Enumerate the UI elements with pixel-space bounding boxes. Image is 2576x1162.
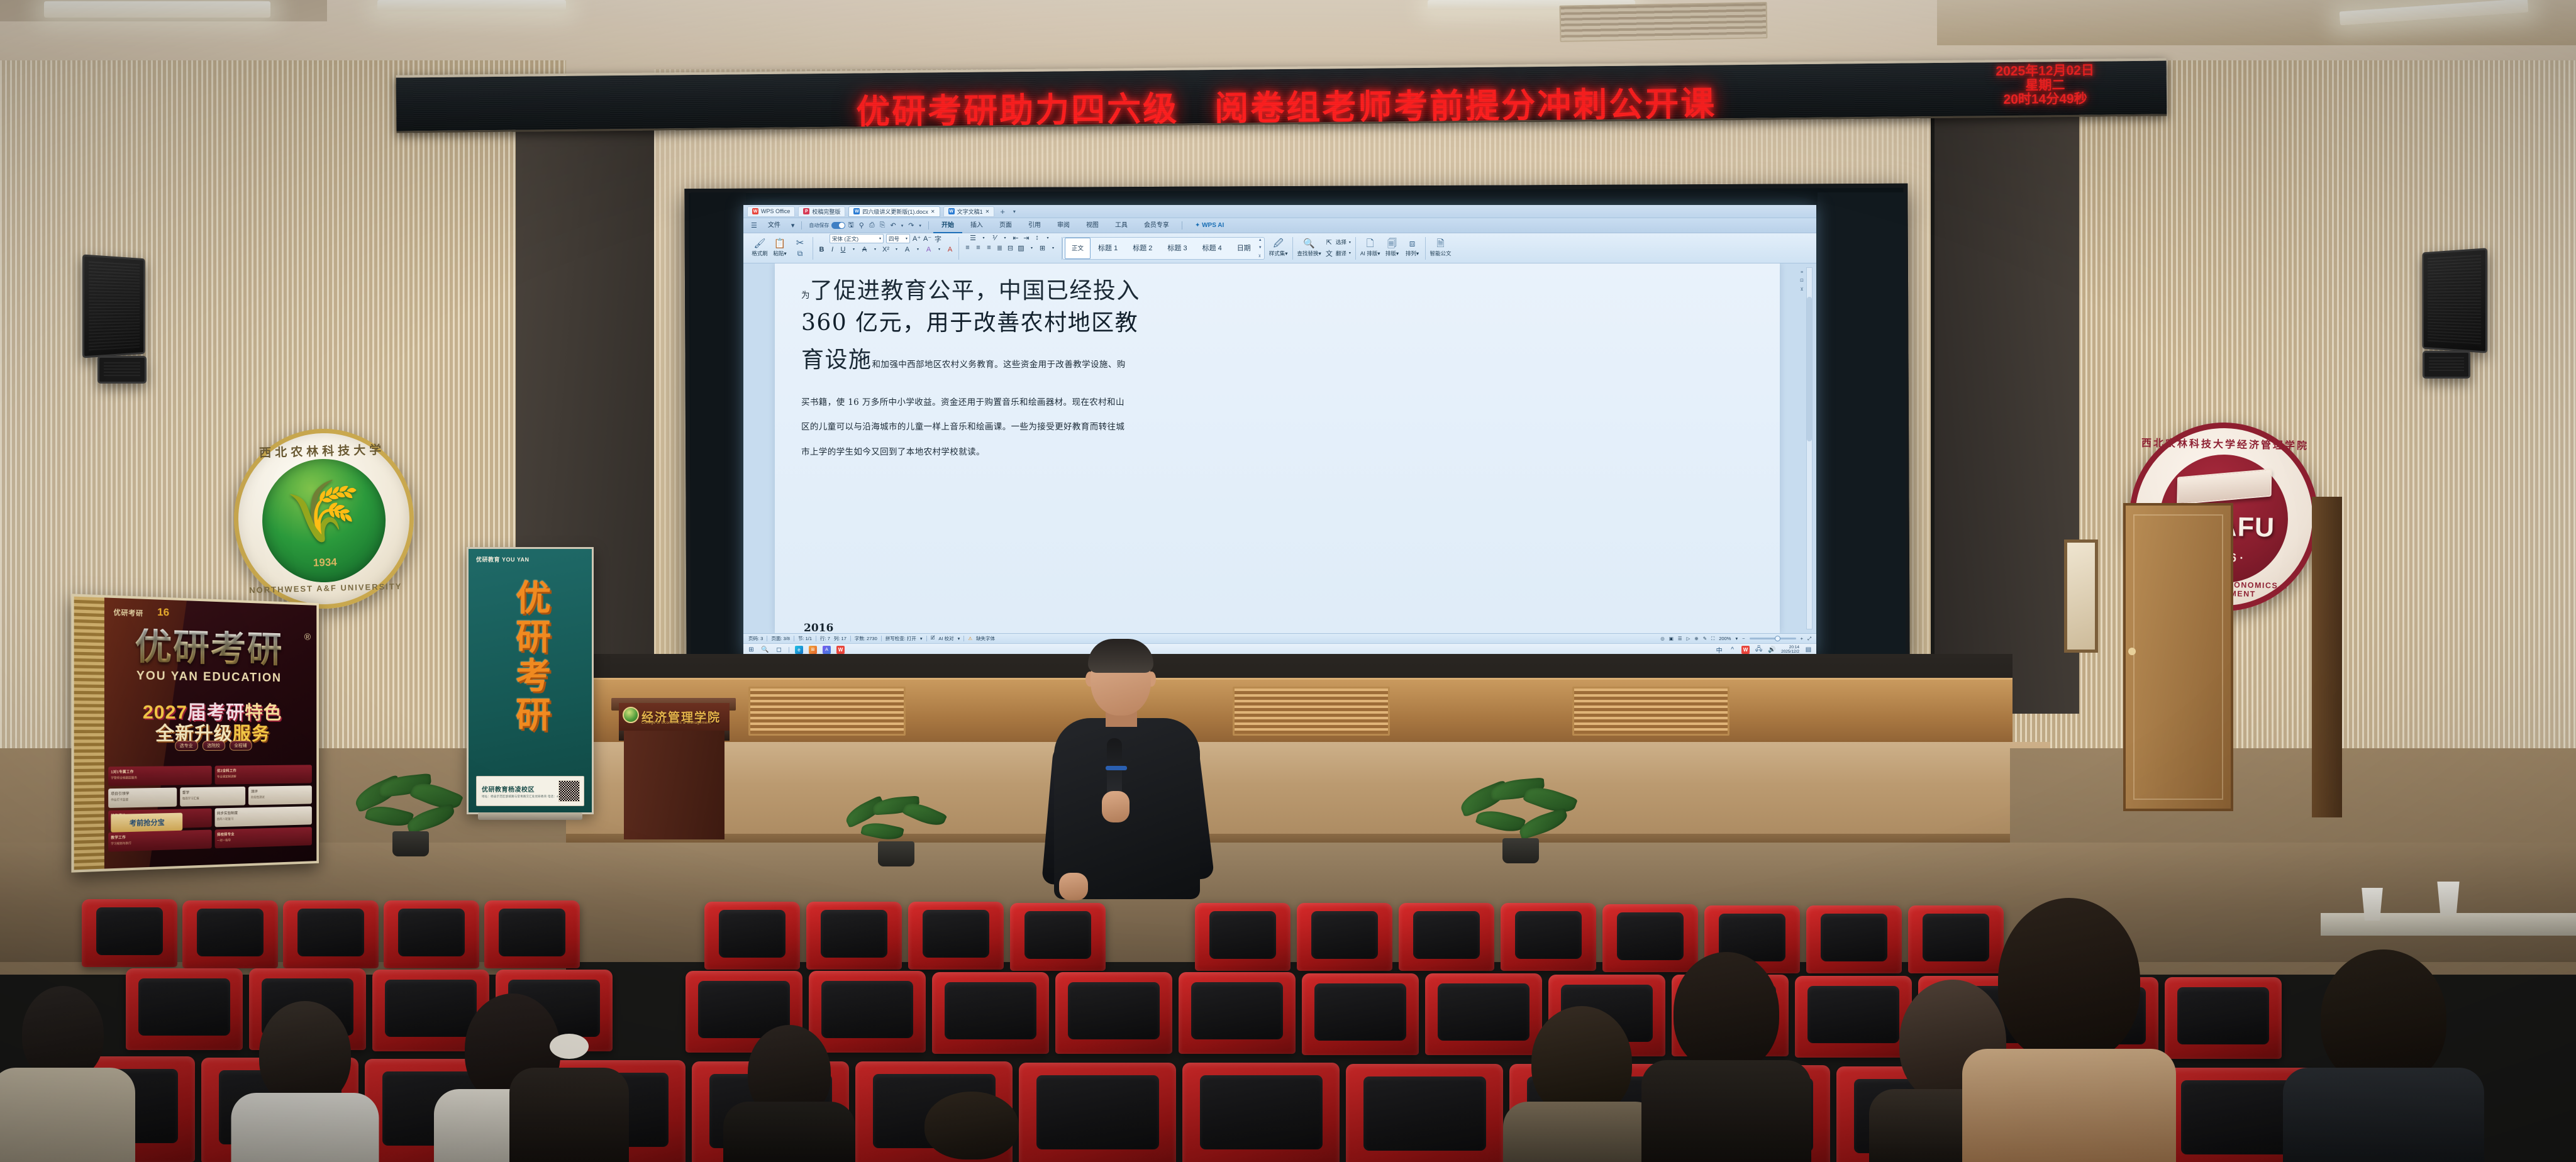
- button-label: 样式集▾: [1269, 250, 1288, 257]
- document-tab-active[interactable]: W 四六级讲义更新版(1).docx ✕: [848, 206, 940, 217]
- outline-view-icon[interactable]: ▷: [1687, 636, 1690, 641]
- tab-label: 四六级讲义更新版(1).docx: [862, 207, 928, 216]
- increase-font-size-button[interactable]: A⁺: [913, 235, 921, 243]
- style-heading-1[interactable]: 标题 1: [1091, 238, 1125, 259]
- button-label: 粘贴▾: [773, 250, 786, 257]
- projection-screen-left-margin: [691, 192, 746, 658]
- wall-dark-right: [1935, 85, 2079, 714]
- seat[interactable]: [82, 899, 177, 967]
- taskbar-tray[interactable]: 中 ^ W 🖧 🔊 20:14 2025/12/2 ▤: [1715, 645, 1813, 655]
- borders-icon[interactable]: ⊞: [1038, 244, 1046, 252]
- clipboard-group[interactable]: 🖌 格式刷 📋 粘贴▾ ✂ ⧉: [747, 234, 813, 263]
- seat[interactable]: [1501, 903, 1596, 971]
- document-tab[interactable]: W WPS Office: [747, 206, 795, 217]
- paragraph-group[interactable]: ☰ ▾ ⅟ ▾ ⇤ ⇥ ↕ ▾ ≡ ≡ ≡ ≣ ⊟ ▨ ▾ ⊞: [959, 234, 1062, 263]
- poster-brand-en: YOU YAN EDUCATION: [107, 668, 308, 685]
- doc-line-3: 育设施和加强中西部地区农村义务教育。这些资金用于改善教学设施、购: [801, 341, 1755, 374]
- new-tab-button[interactable]: +: [997, 207, 1008, 216]
- document-tab-bar[interactable]: W WPS Office P 校稿完整版 W 四六级讲义更新版(1).docx …: [743, 205, 1816, 218]
- status-page-of[interactable]: 页面: 3/8: [771, 635, 790, 642]
- chevron-down-icon[interactable]: ▾: [980, 236, 988, 240]
- style-set-icon: 🖉: [1274, 239, 1284, 248]
- wall-louver-2: [1233, 687, 1390, 736]
- seat[interactable]: [283, 900, 379, 968]
- style-heading-4[interactable]: 标题 4: [1195, 238, 1230, 259]
- seat[interactable]: [806, 902, 902, 970]
- ai-layout-icon: 🗋: [1367, 239, 1374, 248]
- vertical-scrollbar[interactable]: [1806, 267, 1813, 629]
- warning-icon: ⚠: [968, 636, 972, 641]
- cell-title: 督学: [182, 790, 189, 795]
- emblem-name-cn: 西北农林科技大学经济管理学院: [2136, 434, 2314, 453]
- pdf-icon: P: [803, 208, 809, 214]
- doc-line-1: 为了促进教育公平，中国已经投入: [801, 272, 1755, 305]
- poster-anniversary-badge: 16: [157, 606, 169, 619]
- seat[interactable]: [1806, 905, 1902, 973]
- led-clock: 2025年12月02日 星期二 20时14分49秒: [1941, 64, 2150, 108]
- status-bar[interactable]: 页码: 3 页面: 3/8 节: 1/1 行: 7 列: 17 字数: 2730…: [743, 633, 1816, 643]
- find-replace-button[interactable]: 🔍 查找替换▾: [1297, 239, 1321, 257]
- banner-brand-text: 优研考研: [513, 579, 548, 735]
- arrange-button[interactable]: ⧈ 排列▾: [1404, 239, 1421, 257]
- status-bar-right[interactable]: ◎ ▣ ☰ ▷ ⊕ ✎ ⛶ 200% ▾ − + ⤢: [1660, 636, 1811, 642]
- document-page[interactable]: 为了促进教育公平，中国已经投入 360 亿元，用于改善农村地区教 育设施和加强中…: [775, 263, 1780, 633]
- wall-louver-3: [1572, 687, 1729, 736]
- print-icon[interactable]: ⎙: [867, 221, 877, 230]
- seat[interactable]: [1010, 903, 1106, 971]
- highlight-color-button[interactable]: A: [924, 246, 933, 253]
- person-head: [2321, 949, 2446, 1087]
- font-row-2[interactable]: B I U ▾ A ▾ X² ▾ A ▾ A ▾ A: [818, 246, 954, 253]
- doc-icon: W: [853, 208, 860, 214]
- poster-pill: 全程辅: [230, 741, 252, 751]
- status-spellcheck[interactable]: 拼写检查: 打开: [885, 635, 916, 642]
- tab-label: 文字文稿1: [957, 207, 983, 216]
- status-section[interactable]: 节: 1/1: [798, 635, 812, 642]
- divider: [881, 636, 882, 641]
- reading-layout-icon[interactable]: ▣: [1669, 636, 1674, 641]
- wps-ai-button[interactable]: ✦ WPS AI: [1187, 218, 1232, 233]
- poster-grid-row: 1对1专属工作 学管师全程跟踪服务 优2全科工作 专业课定制讲解: [108, 765, 312, 786]
- select-row[interactable]: ⇱ 选择 ▾: [1325, 238, 1351, 246]
- document-canvas[interactable]: 为了促进教育公平，中国已经投入 360 亿元，用于改善农村地区教 育设施和加强中…: [743, 263, 1816, 633]
- taskbar-clock[interactable]: 20:14 2025/12/2: [1781, 645, 1799, 655]
- audience-member: [906, 1092, 1038, 1162]
- person-shoulders: [0, 1068, 135, 1162]
- bold-button[interactable]: B: [818, 246, 826, 253]
- ribbon-tab-review[interactable]: 审阅: [1049, 218, 1078, 233]
- ruler-mark: ⊡: [1800, 277, 1804, 285]
- divider: [1182, 221, 1182, 230]
- lectern: 经济管理学院 College of Economics & Management: [615, 654, 732, 839]
- seat[interactable]: [126, 968, 243, 1050]
- banner-header: 优研教育 YOU YAN: [476, 555, 530, 563]
- college-badge-icon: [623, 707, 639, 723]
- divider: [928, 221, 929, 230]
- shading-icon[interactable]: ▨: [1017, 244, 1025, 252]
- zoom-in-button[interactable]: +: [1801, 636, 1803, 641]
- chevron-down-icon[interactable]: ▾: [871, 247, 879, 252]
- share-icon[interactable]: ⚲: [857, 221, 867, 230]
- divider: [794, 636, 794, 641]
- ai-proofread-icon: 🗹: [931, 634, 935, 643]
- audience-member: [516, 1030, 623, 1162]
- undo-icon[interactable]: ↶: [887, 221, 898, 230]
- align-left-icon[interactable]: ≡: [963, 244, 972, 252]
- clock-time: 20:14: [1781, 645, 1799, 650]
- scrollbar-thumb[interactable]: [1807, 297, 1812, 441]
- eye-care-icon[interactable]: ◎: [1660, 636, 1665, 641]
- divider: [801, 221, 802, 230]
- chevron-down-icon[interactable]: ▾: [892, 247, 901, 252]
- smart-doc-button[interactable]: 🗎 智能公文: [1430, 239, 1452, 257]
- microphone-band: [1106, 766, 1127, 770]
- chevron-down-icon[interactable]: ▾: [958, 636, 960, 641]
- doc-line-6: 市上学的学生如今又回到了本地农村学校就读。: [801, 440, 1755, 465]
- rollup-banner-teal: 优研教育 YOU YAN 优研考研 优研教育杨凌校区 地址：杨凌示范区邰城路与常…: [467, 547, 594, 814]
- numbered-list-icon[interactable]: ⅟: [991, 234, 999, 242]
- doc-line-3-big: 育设施: [801, 347, 872, 373]
- button-label: AI 排版▾: [1360, 250, 1380, 257]
- cell-title: 测评: [251, 789, 258, 794]
- seat[interactable]: [1019, 1063, 1176, 1162]
- ai-layout-button[interactable]: 🗋 AI 排版▾: [1360, 239, 1380, 257]
- ime-icon[interactable]: 中: [1715, 646, 1723, 654]
- tray-wps-icon[interactable]: W: [1741, 646, 1750, 654]
- paragraph-row-1[interactable]: ☰ ▾ ⅟ ▾ ⇤ ⇥ ↕ ▾: [969, 234, 1052, 242]
- page-view-icon[interactable]: ☰: [1678, 636, 1682, 641]
- format-brush-icon: 🖌: [753, 239, 765, 248]
- seat[interactable]: [2165, 977, 2282, 1059]
- seat[interactable]: [1179, 972, 1296, 1054]
- poster-grid-row: 项目引领学 作业打卡监督 督学 每周学习汇报 测评 阶段性测试: [108, 785, 312, 808]
- chevron-down-icon[interactable]: ▾: [914, 247, 922, 252]
- poster-pill: 选专业: [175, 741, 198, 751]
- bullet-list-icon[interactable]: ☰: [969, 234, 977, 242]
- copy-icon[interactable]: ⧉: [797, 249, 803, 258]
- save-icon[interactable]: 🖫: [845, 219, 856, 231]
- projection-screen-right-margin: [1818, 192, 1906, 658]
- chevron-down-icon[interactable]: ▼: [1258, 246, 1262, 250]
- align-right-icon[interactable]: ≡: [985, 244, 993, 252]
- loudspeaker-right: [2423, 248, 2488, 353]
- poster-cell: 1对1专属工作 学管师全程跟踪服务: [108, 766, 211, 786]
- redo-icon[interactable]: ↷: [906, 221, 916, 230]
- scissors-icon: ✂: [796, 238, 804, 248]
- document-tab[interactable]: P 校稿完整版: [798, 206, 845, 217]
- person-shoulders: [2283, 1068, 2484, 1162]
- person-shoulders: [723, 1102, 855, 1162]
- status-col[interactable]: 列: 17: [834, 635, 847, 642]
- font-size-select[interactable]: 四号 ▾: [886, 234, 910, 243]
- start-button-icon[interactable]: ⊞: [747, 646, 755, 654]
- format-brush-button[interactable]: 🖌 格式刷: [752, 239, 768, 257]
- person-head: [1531, 1006, 1632, 1117]
- wheat-icon: 🌾: [286, 481, 362, 543]
- smart-doc-icon: 🗎: [1437, 239, 1445, 248]
- door-handle-icon[interactable]: [2128, 648, 2136, 655]
- person-shoulders: [1962, 1049, 2176, 1162]
- seat[interactable]: [1182, 1063, 1340, 1162]
- divider: [767, 636, 767, 641]
- ribbon-tab-view[interactable]: 视图: [1078, 218, 1107, 233]
- loudspeaker-left: [82, 254, 145, 358]
- cut-button[interactable]: ✂ ⧉: [792, 238, 808, 258]
- status-word-count[interactable]: 字数: 2730: [855, 635, 877, 642]
- audience-member: [2289, 949, 2478, 1162]
- chevron-up-icon[interactable]: ▲: [1258, 238, 1262, 242]
- seat[interactable]: [1297, 903, 1392, 971]
- store-icon[interactable]: ⊞: [809, 646, 817, 654]
- volume-icon[interactable]: 🔊: [1768, 646, 1776, 654]
- select-icon: ⇱: [1325, 238, 1333, 246]
- layout-group[interactable]: 🗋 AI 排版▾ 🗐 排版▾ ⧈ 排列▾: [1356, 234, 1425, 263]
- cell-sub: 专业课定制讲解: [217, 775, 236, 778]
- wall-texture-right: [2010, 60, 2576, 802]
- annotation-icon[interactable]: ✎: [1703, 636, 1707, 641]
- button-label: 查找替换▾: [1297, 250, 1321, 257]
- wps-icon: W: [752, 208, 758, 214]
- sparkle-icon: ✦: [1195, 222, 1200, 229]
- zoom-out-button[interactable]: −: [1742, 636, 1745, 641]
- file-menu-button[interactable]: 文件: [760, 218, 789, 233]
- font-group[interactable]: 宋体 (正文) ▾ 四号 ▾ A⁺ A⁻ 字 B I U ▾ A: [813, 234, 958, 263]
- audience-member: [1509, 1006, 1654, 1162]
- status-page-no[interactable]: 页码: 3: [748, 635, 763, 642]
- seat[interactable]: [908, 902, 1004, 970]
- font-family-select[interactable]: 宋体 (正文) ▾: [830, 234, 884, 243]
- hamburger-icon[interactable]: ☰: [748, 221, 760, 230]
- paste-button[interactable]: 📋 粘贴▾: [772, 239, 788, 257]
- doc-line-3-small: 和加强中西部地区农村义务教育。这些资金用于改善教学设施、购: [872, 360, 1126, 370]
- notification-icon[interactable]: ▤: [1804, 646, 1813, 654]
- audience-seating: [0, 817, 2576, 1162]
- seat[interactable]: [1346, 1064, 1503, 1162]
- zoom-slider[interactable]: [1750, 638, 1796, 639]
- tab-label: 校稿完整版: [812, 207, 840, 216]
- emblem-year: 1934: [240, 554, 411, 571]
- arrange-icon: ⧈: [1409, 239, 1416, 248]
- wps-writer-window[interactable]: W WPS Office P 校稿完整版 W 四六级讲义更新版(1).docx …: [743, 205, 1816, 655]
- banner-info-card: 优研教育杨凌校区 地址：杨凌示范区邰城路与常青路交汇处优研教育 电话：400-0…: [476, 776, 584, 806]
- ribbon-tab-reference[interactable]: 引用: [1020, 218, 1049, 233]
- style-normal[interactable]: 正文: [1065, 238, 1091, 259]
- ribbon-tab-tools[interactable]: 工具: [1107, 218, 1136, 233]
- chevron-down-icon[interactable]: ▾: [1011, 209, 1018, 214]
- ai-icon[interactable]: A: [823, 646, 831, 654]
- seat[interactable]: [182, 900, 278, 968]
- chevron-down-icon[interactable]: ▾: [935, 247, 943, 252]
- button-label: 排列▾: [1406, 250, 1419, 257]
- chevron-down-icon[interactable]: ▾: [850, 247, 858, 252]
- seat[interactable]: [1195, 903, 1291, 971]
- select-translate-group[interactable]: ⇱ 选择 ▾ 文 翻译 ▾: [1325, 238, 1351, 258]
- divider: [963, 636, 964, 641]
- person-shoulders: [509, 1068, 629, 1162]
- styles-scrollbar[interactable]: ▲ ▼ ⊻: [1258, 238, 1262, 258]
- ceiling-air-vent: [1560, 2, 1768, 42]
- doc-heading-prefix: 为: [801, 290, 810, 301]
- text-effects-icon[interactable]: 字: [934, 234, 942, 244]
- chevron-down-icon[interactable]: ▾: [1049, 246, 1057, 250]
- person-head: [22, 986, 104, 1080]
- italic-button[interactable]: I: [828, 246, 836, 253]
- led-clock-time: 20时14分49秒: [1941, 92, 2149, 108]
- style-set-button[interactable]: 🖉 样式集▾: [1269, 239, 1288, 257]
- decrease-font-size-button[interactable]: A⁻: [923, 235, 931, 243]
- style-set-group[interactable]: 🖉 样式集▾: [1265, 234, 1292, 263]
- seat[interactable]: [1055, 972, 1172, 1054]
- search-icon: 🔍: [1303, 239, 1315, 248]
- led-clock-date: 2025年12月02日: [1941, 64, 2149, 80]
- cell-sub: 学管师全程跟踪服务: [111, 776, 137, 780]
- ribbon-tab-page[interactable]: 页面: [991, 218, 1020, 233]
- line-spacing-icon[interactable]: ↕: [1033, 234, 1041, 241]
- select-button[interactable]: 选择: [1336, 238, 1346, 246]
- ribbon-tab-bar[interactable]: ☰ 文件 ▾ 自动保存 🖫 ⚲ ⎙ ⎘ ↶ ▾ ↷ ▾ 开始 插入 页面 引用 …: [743, 218, 1816, 233]
- close-icon[interactable]: ✕: [931, 209, 935, 214]
- seat[interactable]: [704, 902, 800, 970]
- cell-title: 优2全科工作: [217, 768, 236, 773]
- door-frame-right: [2312, 497, 2342, 817]
- status-row[interactable]: 行: 7: [820, 635, 830, 642]
- smart-doc-group[interactable]: 🗎 智能公文: [1426, 234, 1456, 263]
- side-table-right: [2321, 913, 2576, 936]
- loudspeaker-left-sub: [97, 356, 147, 384]
- fit-page-icon[interactable]: ⤢: [1807, 636, 1811, 642]
- chevron-down-icon[interactable]: ▾: [920, 636, 923, 641]
- style-date[interactable]: 日期: [1230, 238, 1258, 259]
- ribbon-tab-insert[interactable]: 插入: [962, 218, 991, 233]
- decrease-indent-icon[interactable]: ⇤: [1012, 234, 1020, 242]
- status-missing-font[interactable]: 缺失字体: [976, 635, 995, 642]
- button-label: 排版▾: [1385, 250, 1399, 257]
- poster-cell: 督学 每周学习汇报: [180, 787, 246, 807]
- chevron-down-icon[interactable]: ▾: [789, 221, 797, 230]
- autosave-toggle[interactable]: [831, 222, 845, 229]
- person-shoulders: [1503, 1102, 1660, 1162]
- distribute-icon[interactable]: ⊟: [1006, 244, 1014, 252]
- ribbon-tab-member[interactable]: 会员专享: [1136, 218, 1177, 233]
- doc-line-5: 区的儿童可以与沿海城市的儿童一样上音乐和绘画课。一些为接受更好教育而转往城: [801, 415, 1755, 440]
- increase-indent-icon[interactable]: ⇥: [1023, 234, 1031, 242]
- network-icon[interactable]: 🖧: [1755, 646, 1763, 654]
- paragraph-row-2[interactable]: ≡ ≡ ≡ ≣ ⊟ ▨ ▾ ⊞ ▾: [963, 244, 1057, 252]
- styles-gallery[interactable]: 正文 标题 1 标题 2 标题 3 标题 4 日期 ▲ ▼ ⊻: [1062, 237, 1265, 260]
- chevron-down-icon[interactable]: ▾: [1349, 240, 1351, 245]
- tab-label: WPS Office: [761, 208, 790, 214]
- style-heading-3[interactable]: 标题 3: [1160, 238, 1194, 259]
- cell-sub: 作业打卡监督: [111, 798, 128, 802]
- cell-title: 项目引领学: [111, 791, 129, 797]
- chevron-down-icon[interactable]: ▾: [1001, 236, 1009, 240]
- button-label: 格式刷: [752, 250, 768, 257]
- doc-icon: W: [948, 208, 955, 214]
- justify-icon[interactable]: ≣: [996, 244, 1004, 252]
- task-view-icon[interactable]: ◻: [775, 646, 783, 654]
- presenter-hair: [1088, 639, 1153, 673]
- print-preview-icon[interactable]: ⎘: [877, 221, 888, 230]
- lecture-hall-photo: 优研考研助力四六级 阅卷组老师考前提分冲刺公开课 2025年12月02日 星期二…: [0, 0, 2576, 1162]
- edge-icon[interactable]: e: [795, 646, 803, 654]
- document-tab[interactable]: W 文字文稿1 ✕: [943, 206, 995, 217]
- person-shoulders: [1641, 1060, 1811, 1162]
- seat[interactable]: [1399, 903, 1494, 971]
- chevron-down-icon[interactable]: ▾: [1735, 636, 1738, 641]
- chevron-down-icon[interactable]: ▾: [1349, 251, 1351, 255]
- chevron-down-icon: ▾: [906, 236, 908, 241]
- layout-button[interactable]: 🗐 排版▾: [1384, 239, 1401, 257]
- seat[interactable]: [484, 900, 580, 968]
- align-center-icon[interactable]: ≡: [974, 244, 982, 252]
- banner-brand-vertical: 优研考研: [469, 579, 592, 741]
- seat[interactable]: [1302, 973, 1419, 1055]
- ceiling-light-2: [377, 0, 566, 11]
- chevron-down-icon: ▾: [879, 236, 881, 241]
- underline-button[interactable]: U: [839, 246, 847, 253]
- doc-line-4: 买书籍，使 16 万多所中小学收益。资金还用于购置音乐和绘画器材。现在农村和山: [801, 390, 1755, 415]
- font-row-1[interactable]: 宋体 (正文) ▾ 四号 ▾ A⁺ A⁻ 字: [830, 234, 942, 244]
- banner-card-title: 优研教育杨凌校区: [482, 784, 535, 794]
- style-heading-2[interactable]: 标题 2: [1125, 238, 1160, 259]
- person-shoulders: [231, 1093, 379, 1162]
- ruler-mark: ≡: [1800, 268, 1804, 277]
- audience-member: [0, 986, 126, 1162]
- web-layout-icon[interactable]: ⊕: [1694, 636, 1698, 641]
- cell-title: 1对1专属工作: [111, 769, 133, 775]
- divider: [789, 647, 789, 653]
- chevron-down-icon[interactable]: ▾: [1028, 246, 1036, 250]
- seat[interactable]: [384, 900, 479, 968]
- chevron-down-icon[interactable]: ▾: [1044, 236, 1052, 240]
- ruler-mark: ⊻: [1800, 285, 1804, 294]
- seat[interactable]: [932, 972, 1049, 1054]
- cell-title: 同步实验制度: [217, 811, 238, 816]
- superscript-button[interactable]: X²: [882, 246, 890, 253]
- person-head: [259, 1001, 351, 1107]
- divider: [816, 636, 816, 641]
- close-icon[interactable]: ✕: [985, 209, 990, 214]
- fullscreen-icon[interactable]: ⛶: [1711, 636, 1714, 642]
- more-icon[interactable]: ⊻: [1258, 254, 1262, 258]
- chevron-down-icon[interactable]: ▾: [916, 223, 924, 228]
- translate-button[interactable]: 翻译: [1336, 250, 1346, 257]
- person-head: [924, 1092, 1019, 1159]
- zoom-level[interactable]: 200%: [1719, 636, 1731, 641]
- search-icon[interactable]: 🔍: [761, 646, 769, 654]
- character-border-button[interactable]: A: [903, 246, 911, 253]
- status-ai-proof[interactable]: AI 校对: [938, 635, 953, 642]
- chevron-up-icon[interactable]: ^: [1728, 646, 1736, 654]
- translate-row[interactable]: 文 翻译 ▾: [1325, 248, 1351, 258]
- wps-icon[interactable]: W: [836, 646, 845, 654]
- strikethrough-button[interactable]: A: [860, 246, 869, 253]
- layout-icon: 🗐: [1387, 239, 1397, 248]
- font-color-button[interactable]: A: [946, 246, 954, 253]
- editing-group[interactable]: 🔍 查找替换▾ ⇱ 选择 ▾ 文 翻译 ▾: [1293, 234, 1355, 263]
- autosave-label: 自动保存: [806, 222, 831, 229]
- cell-sub: 阶段性测试: [251, 795, 265, 799]
- lectern-sign-en: College of Economics & Management: [641, 721, 711, 725]
- poster-pill: 选院校: [202, 741, 225, 751]
- poster-pill-row: 选专业 选院校 全程辅: [120, 741, 303, 751]
- ribbon-home[interactable]: 🖌 格式刷 📋 粘贴▾ ✂ ⧉ 宋体 (正文): [743, 233, 1816, 263]
- ribbon-tab-home[interactable]: 开始: [933, 218, 962, 233]
- chevron-down-icon[interactable]: ▾: [899, 223, 906, 228]
- poster-tagline: 优研考研: [113, 607, 143, 618]
- exit-door-right[interactable]: [2123, 503, 2233, 811]
- loudspeaker-right-sub: [2423, 351, 2470, 379]
